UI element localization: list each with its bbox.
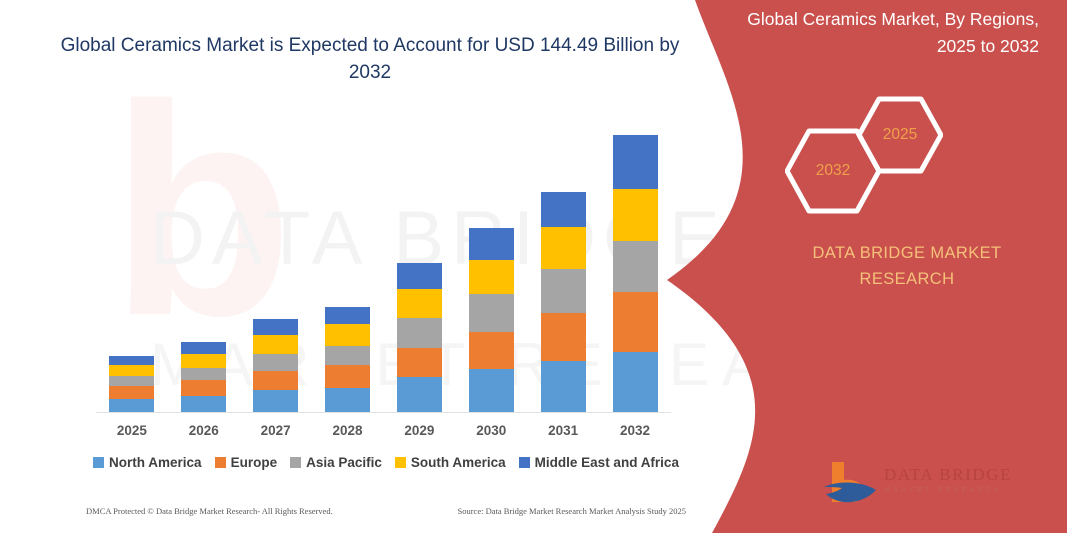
bar-segment bbox=[613, 135, 658, 189]
bar-column-2031 bbox=[528, 100, 599, 412]
chart-title: Global Ceramics Market is Expected to Ac… bbox=[60, 32, 680, 86]
legend-swatch-icon bbox=[93, 457, 104, 468]
bar-segment bbox=[325, 324, 370, 346]
bar-segment bbox=[181, 380, 226, 395]
x-axis-labels: 20252026202720282029203020312032 bbox=[96, 423, 671, 438]
bar-segment bbox=[541, 192, 586, 227]
legend-label: South America bbox=[411, 455, 506, 470]
stacked-bar bbox=[397, 263, 442, 412]
stacked-bar bbox=[613, 135, 658, 412]
legend-label: North America bbox=[109, 455, 202, 470]
bar-segment bbox=[325, 346, 370, 366]
bar-segment bbox=[253, 354, 298, 371]
bar-column-2032 bbox=[600, 100, 671, 412]
x-axis-label-2029: 2029 bbox=[384, 423, 455, 438]
brand-name: DATA BRIDGE MARKET RESEARCH bbox=[782, 240, 1032, 292]
bar-column-2025 bbox=[96, 100, 167, 412]
stacked-bar bbox=[325, 307, 370, 412]
x-axis-label-2030: 2030 bbox=[456, 423, 527, 438]
bar-segment bbox=[181, 354, 226, 367]
footer: DMCA Protected © Data Bridge Market Rese… bbox=[86, 506, 686, 516]
bar-segment bbox=[541, 313, 586, 362]
bar-column-2027 bbox=[240, 100, 311, 412]
bar-segment bbox=[181, 368, 226, 381]
bar-segment bbox=[325, 365, 370, 387]
axis-baseline bbox=[96, 412, 671, 413]
logo-name: DATA BRIDGE bbox=[884, 465, 1012, 485]
right-red-panel: Global Ceramics Market, By Regions, 2025… bbox=[667, 0, 1067, 533]
legend-swatch-icon bbox=[395, 457, 406, 468]
bar-column-2029 bbox=[384, 100, 455, 412]
bar-segment bbox=[181, 342, 226, 355]
legend-swatch-icon bbox=[215, 457, 226, 468]
hexagon-group: 2032 2025 bbox=[777, 95, 1067, 215]
legend-item[interactable]: South America bbox=[395, 455, 506, 470]
bar-segment bbox=[109, 399, 154, 412]
bar-segment bbox=[541, 361, 586, 412]
stacked-bar bbox=[109, 356, 154, 412]
stacked-bar bbox=[253, 319, 298, 412]
x-axis-label-2032: 2032 bbox=[600, 423, 671, 438]
bar-segment bbox=[613, 241, 658, 292]
plot-area bbox=[96, 100, 671, 413]
logo-tagline: MARKET RESEARCH bbox=[884, 485, 1012, 497]
bar-segment bbox=[181, 396, 226, 412]
bar-segment bbox=[325, 388, 370, 412]
legend-item[interactable]: North America bbox=[93, 455, 202, 470]
hexagon-2025: 2025 bbox=[857, 95, 943, 175]
x-axis-label-2027: 2027 bbox=[240, 423, 311, 438]
bar-segment bbox=[469, 228, 514, 261]
logo-bridge-icon bbox=[822, 460, 880, 508]
bar-segment bbox=[397, 318, 442, 349]
footer-copyright: DMCA Protected © Data Bridge Market Rese… bbox=[86, 506, 333, 516]
bar-segment bbox=[325, 307, 370, 324]
stacked-bar bbox=[469, 228, 514, 412]
legend-item[interactable]: Asia Pacific bbox=[290, 455, 382, 470]
bar-segment bbox=[397, 263, 442, 289]
right-panel-title: Global Ceramics Market, By Regions, 2025… bbox=[707, 6, 1039, 60]
bar-segment bbox=[469, 294, 514, 331]
stacked-bar bbox=[541, 192, 586, 412]
bar-segment bbox=[613, 189, 658, 240]
infographic-root: b DATA BRIDGE MARKET RESEARCH Global Cer… bbox=[0, 0, 1067, 533]
bar-segment bbox=[469, 260, 514, 294]
hexagon-2032-label: 2032 bbox=[816, 162, 850, 180]
bar-segment bbox=[541, 227, 586, 269]
bar-segment bbox=[469, 369, 514, 412]
legend-label: Asia Pacific bbox=[306, 455, 382, 470]
x-axis-label-2025: 2025 bbox=[96, 423, 167, 438]
hexagon-2025-label: 2025 bbox=[883, 126, 917, 144]
legend-item[interactable]: Europe bbox=[215, 455, 278, 470]
legend-swatch-icon bbox=[290, 457, 301, 468]
bar-column-2026 bbox=[168, 100, 239, 412]
bar-segment bbox=[253, 319, 298, 335]
logo-text: DATA BRIDGE MARKET RESEARCH bbox=[884, 465, 1012, 497]
chart-legend: North AmericaEuropeAsia PacificSouth Ame… bbox=[96, 455, 676, 470]
bar-segment bbox=[469, 332, 514, 369]
bar-segment bbox=[109, 376, 154, 386]
bar-segment bbox=[253, 335, 298, 354]
bar-segment bbox=[253, 371, 298, 391]
bar-segment bbox=[541, 269, 586, 313]
legend-label: Europe bbox=[231, 455, 278, 470]
footer-source: Source: Data Bridge Market Research Mark… bbox=[457, 506, 686, 516]
bar-segment bbox=[613, 292, 658, 352]
legend-swatch-icon bbox=[519, 457, 530, 468]
x-axis-label-2028: 2028 bbox=[312, 423, 383, 438]
legend-label: Middle East and Africa bbox=[535, 455, 679, 470]
legend-item[interactable]: Middle East and Africa bbox=[519, 455, 679, 470]
x-axis-label-2031: 2031 bbox=[528, 423, 599, 438]
stacked-bar bbox=[181, 342, 226, 412]
bar-segment bbox=[397, 377, 442, 412]
bar-column-2028 bbox=[312, 100, 383, 412]
bar-segment bbox=[109, 386, 154, 399]
chart-panel: Global Ceramics Market is Expected to Ac… bbox=[0, 0, 720, 533]
stacked-bar-group bbox=[96, 100, 671, 412]
bar-column-2030 bbox=[456, 100, 527, 412]
bar-segment bbox=[253, 390, 298, 412]
bar-segment bbox=[397, 348, 442, 377]
bar-segment bbox=[613, 352, 658, 412]
bar-segment bbox=[109, 365, 154, 375]
company-logo: DATA BRIDGE MARKET RESEARCH bbox=[822, 460, 1042, 510]
x-axis-label-2026: 2026 bbox=[168, 423, 239, 438]
bar-segment bbox=[109, 356, 154, 365]
bar-segment bbox=[397, 289, 442, 317]
